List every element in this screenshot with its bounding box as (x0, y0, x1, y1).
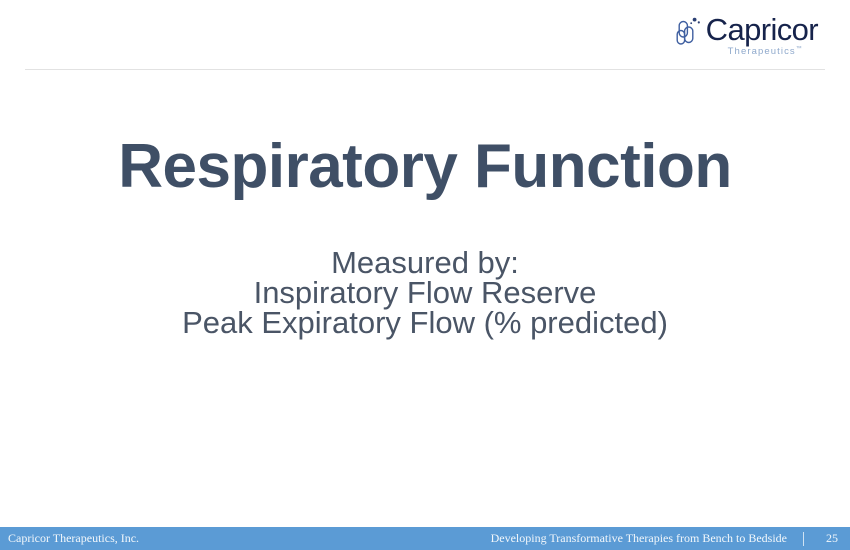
capricor-logo-mark (675, 15, 705, 53)
capricor-wordmark: Capricor (706, 14, 818, 46)
footer-tagline: Developing Transformative Therapies from… (491, 527, 787, 550)
slide-page-number: 25 (822, 527, 838, 550)
slide-header: Capricor Therapeutics™ (0, 0, 850, 70)
subtitle-line-3: Peak Expiratory Flow (% predicted) (0, 308, 850, 338)
slide-footer: Capricor Therapeutics, Inc. Developing T… (0, 527, 850, 550)
page-title: Respiratory Function (0, 132, 850, 202)
footer-company-name: Capricor Therapeutics, Inc. (8, 527, 139, 550)
slide-content: Respiratory Function Measured by: Inspir… (0, 70, 850, 527)
capricor-logo-text: Capricor Therapeutics™ (706, 14, 818, 57)
footer-divider (803, 532, 804, 546)
slide: Capricor Therapeutics™ Respiratory Funct… (0, 0, 850, 550)
capricor-logo: Capricor Therapeutics™ (675, 14, 818, 60)
capricor-tagline-text: Therapeutics (728, 46, 796, 57)
subtitle-line-2: Inspiratory Flow Reserve (0, 278, 850, 308)
subtitle-line-1: Measured by: (0, 248, 850, 278)
footer-right-group: Developing Transformative Therapies from… (491, 527, 838, 550)
slide-subtitle: Measured by: Inspiratory Flow Reserve Pe… (0, 248, 850, 338)
trademark-symbol: ™ (796, 46, 802, 52)
